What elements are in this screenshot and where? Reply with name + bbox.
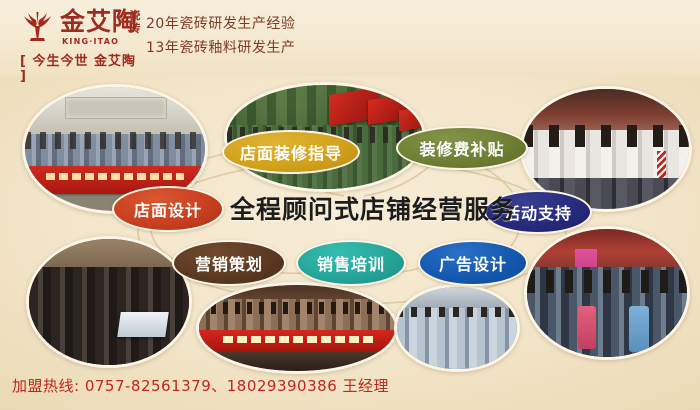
- header-claim-2: 13年瓷砖釉料研发生产: [146, 36, 295, 60]
- brand-side-char-2: 砖: [130, 22, 141, 35]
- pill-ad-design[interactable]: 广告设计: [418, 240, 528, 286]
- pill-label: 装修费补贴: [419, 136, 504, 160]
- pill-store-decoration-guide[interactable]: 店面装修指导: [222, 130, 360, 174]
- hotline-text: 加盟热线: 0757-82561379、18029390386 王经理: [12, 375, 389, 396]
- photo-uniform-group: [394, 284, 520, 372]
- pill-decoration-subsidy[interactable]: 装修费补贴: [396, 126, 528, 170]
- header-band: 金艾陶 KING·ITAO 瓷 砖 [ 今生今世 金艾陶 ] 20年瓷砖研发生产…: [0, 0, 700, 76]
- header-claim-1: 20年瓷砖研发生产经验: [146, 12, 295, 36]
- pill-label: 营销策划: [195, 251, 263, 275]
- pill-label: 店面设计: [134, 197, 202, 221]
- crown-antler-icon: [18, 10, 58, 42]
- pill-store-design[interactable]: 店面设计: [112, 186, 224, 232]
- pill-label: 销售培训: [317, 251, 385, 275]
- header-claims: 20年瓷砖研发生产经验 13年瓷砖釉料研发生产: [146, 12, 295, 60]
- pill-marketing-planning[interactable]: 营销策划: [172, 240, 286, 286]
- photo-store-crowd: [524, 226, 690, 360]
- pill-label: 店面装修指导: [240, 140, 342, 164]
- page-title: 全程顾问式店铺经营服务: [230, 190, 516, 226]
- photo-terminal-training: [196, 282, 398, 374]
- brand-side-mark: 瓷 砖: [124, 9, 146, 35]
- promo-banner: 店面装修指导 装修费补贴 店面设计 活动支持 营销策划 销售培训 广告设计 全程…: [0, 0, 700, 410]
- pill-label: 广告设计: [439, 251, 507, 275]
- brand-logo: 金艾陶 KING·ITAO 瓷 砖 [ 今生今世 金艾陶 ]: [14, 6, 142, 68]
- brand-side-char-1: 瓷: [130, 9, 141, 22]
- brand-name-en: KING·ITAO: [62, 37, 119, 46]
- brand-slogan: [ 今生今世 金艾陶 ]: [20, 50, 142, 84]
- photo-laptop-crowd: [26, 236, 192, 368]
- pill-sales-training[interactable]: 销售培训: [296, 240, 406, 286]
